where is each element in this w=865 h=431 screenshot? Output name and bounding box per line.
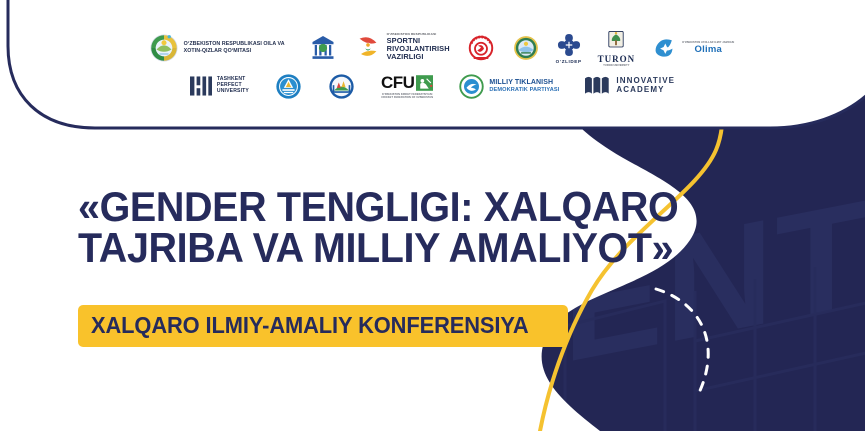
- logo-ozlidep: O‘ZLIDEP: [556, 32, 582, 64]
- logo-innovative-academy: INNOVATIVE ACADEMY: [585, 75, 675, 97]
- logo-micro-cfu-en: CRICKET FEDERATION OF UZBEKISTAN: [381, 96, 433, 99]
- logo-blue-circular-university: [275, 73, 302, 100]
- conference-banner: ENT: [0, 0, 865, 431]
- logo-institution-emblem-blue: [308, 33, 338, 63]
- logo-sport-ministry: O‘ZBEKISTON RESPUBLIKASI SPORTNI RIVOJLA…: [354, 33, 450, 61]
- logo-label-innovative-academy: INNOVATIVE ACADEMY: [616, 77, 675, 95]
- logo-label-tpu: TASHKENT PERFECT UNIVERSITY: [217, 77, 249, 94]
- milliy-tiklanish-bird-icon: [459, 74, 484, 99]
- logo-label-sport-ministry: O‘ZBEKISTON RESPUBLIKASI SPORTNI RIVOJLA…: [387, 33, 450, 61]
- logo-red-wreath-emblem: [466, 33, 496, 63]
- logo-wordmark-olima: Olima: [695, 44, 722, 55]
- innovative-line2: ACADEMY: [616, 86, 675, 95]
- colorful-circular-crest-icon: [328, 73, 355, 100]
- logo-milliy-tiklanish: MILLIY TIKLANISH DEMOKRATIK PARTIYASI: [459, 74, 559, 99]
- tpu-line3: UNIVERSITY: [217, 89, 249, 95]
- innovative-academy-bars-icon: [585, 75, 611, 97]
- green-gold-crest-icon: [512, 34, 540, 62]
- logo-tashkent-perfect-university: TASHKENT PERFECT UNIVERSITY: [190, 76, 249, 96]
- dashed-arc-decoration: [640, 283, 730, 403]
- logo-row-2: TASHKENT PERFECT UNIVERSITY: [0, 73, 865, 100]
- logo-olima: O‘ZBEKISTON AYOLLAR ILMIY JAMOASI Olima: [651, 35, 734, 61]
- logo-uzbekistan-women-committee: O‘ZBEKISTON RESPUBLIKASI OILA VA XOTIN-Q…: [149, 33, 292, 63]
- logo-wordmark-cfu: CFU: [381, 73, 414, 93]
- blue-circular-crest-icon: [275, 73, 302, 100]
- conference-headline: «GENDER TENGLIGI: XALQARO TAJRIBA VA MIL…: [78, 186, 638, 268]
- logo-caption-ozlidep: O‘ZLIDEP: [556, 59, 582, 64]
- logo-olima-text: O‘ZBEKISTON AYOLLAR ILMIY JAMOASI Olima: [682, 41, 734, 55]
- sport-ministry-emblem-icon: [354, 33, 382, 61]
- headline-line-2: TAJRIBA VA MILLIY AMALIYOT»: [78, 227, 604, 268]
- logo-turon: TURON TURON UNIVERSITY: [598, 29, 636, 67]
- subtitle-text: XALQARO ILMIY-AMALIY KONFERENSIYA: [91, 314, 529, 337]
- blue-institution-crest-icon: [308, 33, 338, 63]
- logo-colorful-circular-university: [328, 73, 355, 100]
- logo-green-gold-crest: [512, 34, 540, 62]
- ozlidep-quatrefoil-icon: [556, 32, 582, 58]
- milliy-line1: MILLIY TIKLANISH: [489, 79, 559, 87]
- logo-label-women-committee: O‘ZBEKISTON RESPUBLIKASI OILA VA XOTIN-Q…: [184, 41, 292, 54]
- headline-line-1: «GENDER TENGLIGI: XALQARO: [78, 186, 604, 227]
- partner-logos-panel: O‘ZBEKISTON RESPUBLIKASI OILA VA XOTIN-Q…: [0, 0, 865, 140]
- tpu-bars-mark-icon: [190, 76, 212, 96]
- subtitle-badge: XALQARO ILMIY-AMALIY KONFERENSIYA: [78, 305, 568, 347]
- logo-caption-turon: TURON: [598, 54, 636, 64]
- sport-ministry-line3: VAZIRLIGI: [387, 53, 450, 61]
- logo-row-1: O‘ZBEKISTON RESPUBLIKASI OILA VA XOTIN-Q…: [0, 29, 865, 67]
- cfu-green-badge-icon: [416, 75, 433, 91]
- logo-cricket-federation-uzbekistan: CFU O‘ZBEKISTON KRIKET FEDERATSIYASI CRI…: [381, 73, 433, 99]
- olima-leaf-spark-icon: [651, 35, 677, 61]
- logo-label-milliy-tiklanish: MILLIY TIKLANISH DEMOKRATIK PARTIYASI: [489, 79, 559, 93]
- milliy-line2: DEMOKRATIK PARTIYASI: [489, 87, 559, 93]
- turon-tree-shield-icon: [604, 29, 628, 53]
- logo-micro-turon: TURON UNIVERSITY: [603, 64, 629, 67]
- uzbekistan-state-emblem-icon: [149, 33, 179, 63]
- red-wreath-crest-icon: [466, 33, 496, 63]
